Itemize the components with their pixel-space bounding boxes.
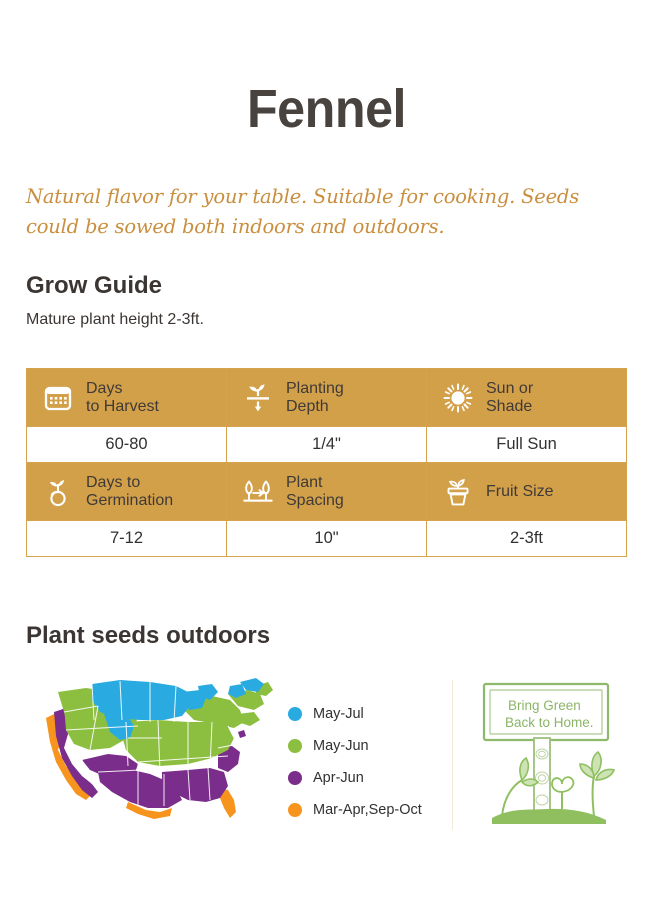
product-tagline: Natural flavor for your table. Suitable … (26, 182, 616, 242)
us-planting-zone-map (42, 676, 277, 826)
legend-dot-icon (288, 707, 302, 721)
table-row: 60-80 1/4" Full Sun (27, 427, 627, 463)
sign-line-1: Bring Green (508, 698, 581, 713)
table-row: Days to Germination (27, 463, 627, 521)
planting-zone-band: May-Jul May-Jun Apr-Jun Mar-Apr,Sep-Oct (0, 668, 653, 848)
spec-header-label: Planting Depth (286, 380, 344, 416)
legend-item: May-Jul (288, 698, 438, 730)
plant-seeds-outdoors-heading: Plant seeds outdoors (26, 622, 270, 650)
sprout-seed-icon (41, 475, 75, 509)
page-title: Fennel (23, 78, 630, 140)
sign-line-2: Back to Home. (505, 715, 594, 730)
spec-header-label: Days to Germination (86, 474, 173, 510)
legend-label: May-Jul (313, 706, 364, 722)
spec-header-days-to-germination: Days to Germination (27, 463, 227, 521)
spec-header-label: Sun or Shade (486, 380, 533, 416)
legend-dot-icon (288, 803, 302, 817)
planting-zone-legend: May-Jul May-Jun Apr-Jun Mar-Apr,Sep-Oct (288, 698, 438, 826)
legend-label: May-Jun (313, 738, 369, 754)
legend-item: Apr-Jun (288, 762, 438, 794)
spec-header-days-to-harvest: Days to Harvest (27, 369, 227, 427)
legend-label: Apr-Jun (313, 770, 364, 786)
table-row: 7-12 10" 2-3ft (27, 521, 627, 557)
spec-header-label: Fruit Size (486, 483, 554, 501)
grow-guide-heading: Grow Guide (26, 272, 162, 300)
spec-header-plant-spacing: Plant Spacing (227, 463, 427, 521)
sun-icon (441, 381, 475, 415)
spec-header-label: Plant Spacing (286, 474, 344, 510)
spec-value-plant-spacing: 10" (227, 521, 427, 557)
grow-guide-subtext: Mature plant height 2-3ft. (26, 311, 204, 329)
spec-header-label: Days to Harvest (86, 380, 159, 416)
bring-green-sign-illustration: Bring Green Back to Home. (470, 670, 640, 842)
spec-value-fruit-size: 2-3ft (427, 521, 627, 557)
seedling-down-icon (241, 381, 275, 415)
section-divider (452, 680, 453, 830)
spec-header-planting-depth: Planting Depth (227, 369, 427, 427)
spec-header-fruit-size: Fruit Size (427, 463, 627, 521)
legend-item: May-Jun (288, 730, 438, 762)
seed-packet-page: Fennel Natural flavor for your table. Su… (0, 0, 653, 898)
spec-header-sun-or-shade: Sun or Shade (427, 369, 627, 427)
spacing-icon (241, 475, 275, 509)
calendar-icon (41, 381, 75, 415)
legend-item: Mar-Apr,Sep-Oct (288, 794, 438, 826)
legend-label: Mar-Apr,Sep-Oct (313, 802, 422, 818)
legend-dot-icon (288, 739, 302, 753)
spec-value-days-to-germination: 7-12 (27, 521, 227, 557)
legend-dot-icon (288, 771, 302, 785)
spec-value-days-to-harvest: 60-80 (27, 427, 227, 463)
spec-value-sun-or-shade: Full Sun (427, 427, 627, 463)
spec-value-planting-depth: 1/4" (227, 427, 427, 463)
grow-guide-spec-table: Days to Harvest (26, 368, 627, 557)
table-row: Days to Harvest (27, 369, 627, 427)
potted-plant-icon (441, 475, 475, 509)
